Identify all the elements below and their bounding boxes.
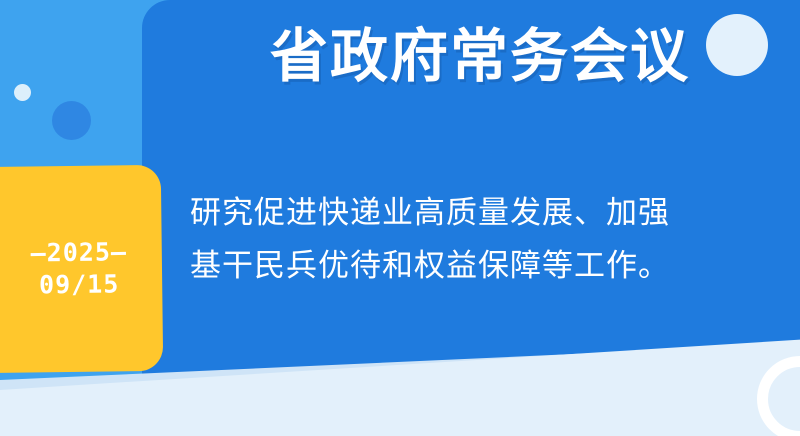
body-line-1: 研究促进快递业高质量发展、加强 [190,186,780,239]
small-circle-decoration-icon [14,84,31,101]
date-badge-year: —2025— [30,236,127,269]
body-paragraph: 研究促进快递业高质量发展、加强 基干民兵优待和权益保障等工作。 [190,186,780,293]
body-line-2: 基干民兵优待和权益保障等工作。 [190,239,780,292]
date-badge: —2025— 09/15 [0,165,163,373]
date-badge-content: —2025— 09/15 [30,236,127,301]
large-circle-decoration-icon [52,101,91,140]
date-badge-day: 09/15 [31,268,128,301]
poster-banner: 省政府常务会议 研究促进快递业高质量发展、加强 基干民兵优待和权益保障等工作。 … [0,0,800,436]
page-title: 省政府常务会议 [160,24,800,91]
